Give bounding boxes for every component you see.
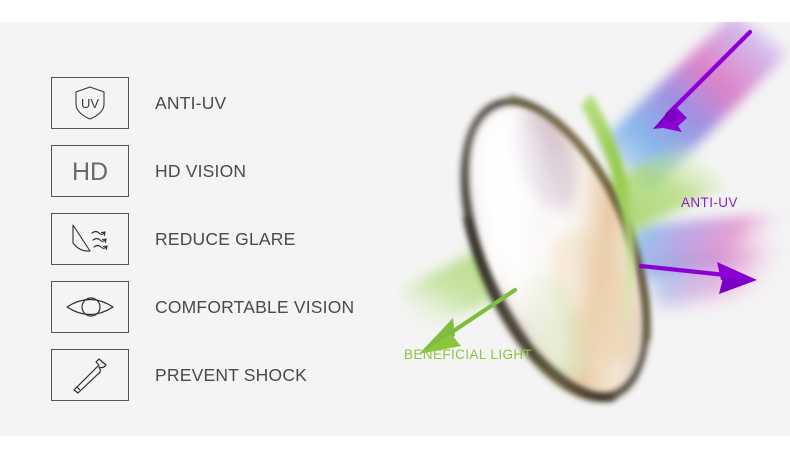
feature-row: HD HD VISION — [51, 145, 401, 197]
lens-features-infographic: UV ANTI-UV HD HD VISION — [0, 0, 790, 461]
feature-icon-box — [51, 281, 129, 333]
feature-row: COMFORTABLE VISION — [51, 281, 401, 333]
shield-uv-icon: UV — [73, 84, 107, 122]
feature-row: PREVENT SHOCK — [51, 349, 401, 401]
feature-list: UV ANTI-UV HD HD VISION — [51, 77, 401, 417]
hd-text-icon-text: HD — [72, 158, 108, 186]
hd-text-icon: HD — [68, 154, 112, 188]
feature-label: HD VISION — [155, 161, 246, 182]
feature-label: PREVENT SHOCK — [155, 365, 307, 386]
glare-reduction-icon — [68, 221, 112, 257]
feature-icon-box — [51, 349, 129, 401]
feature-label: REDUCE GLARE — [155, 229, 296, 250]
feature-label: ANTI-UV — [155, 93, 226, 114]
lens-illustration-graphic — [395, 22, 790, 436]
hammer-icon — [70, 356, 110, 394]
lens-illustration: ANTI-UV BENEFICIAL LIGHT — [395, 22, 790, 436]
beneficial-light-label: BENEFICIAL LIGHT — [404, 347, 532, 362]
anti-uv-label: ANTI-UV — [681, 195, 738, 210]
feature-row: UV ANTI-UV — [51, 77, 401, 129]
feature-icon-box — [51, 213, 129, 265]
feature-label: COMFORTABLE VISION — [155, 297, 354, 318]
shield-uv-icon-text: UV — [81, 96, 99, 111]
feature-row: REDUCE GLARE — [51, 213, 401, 265]
feature-icon-box: HD — [51, 145, 129, 197]
feature-icon-box: UV — [51, 77, 129, 129]
eye-icon — [65, 293, 115, 321]
